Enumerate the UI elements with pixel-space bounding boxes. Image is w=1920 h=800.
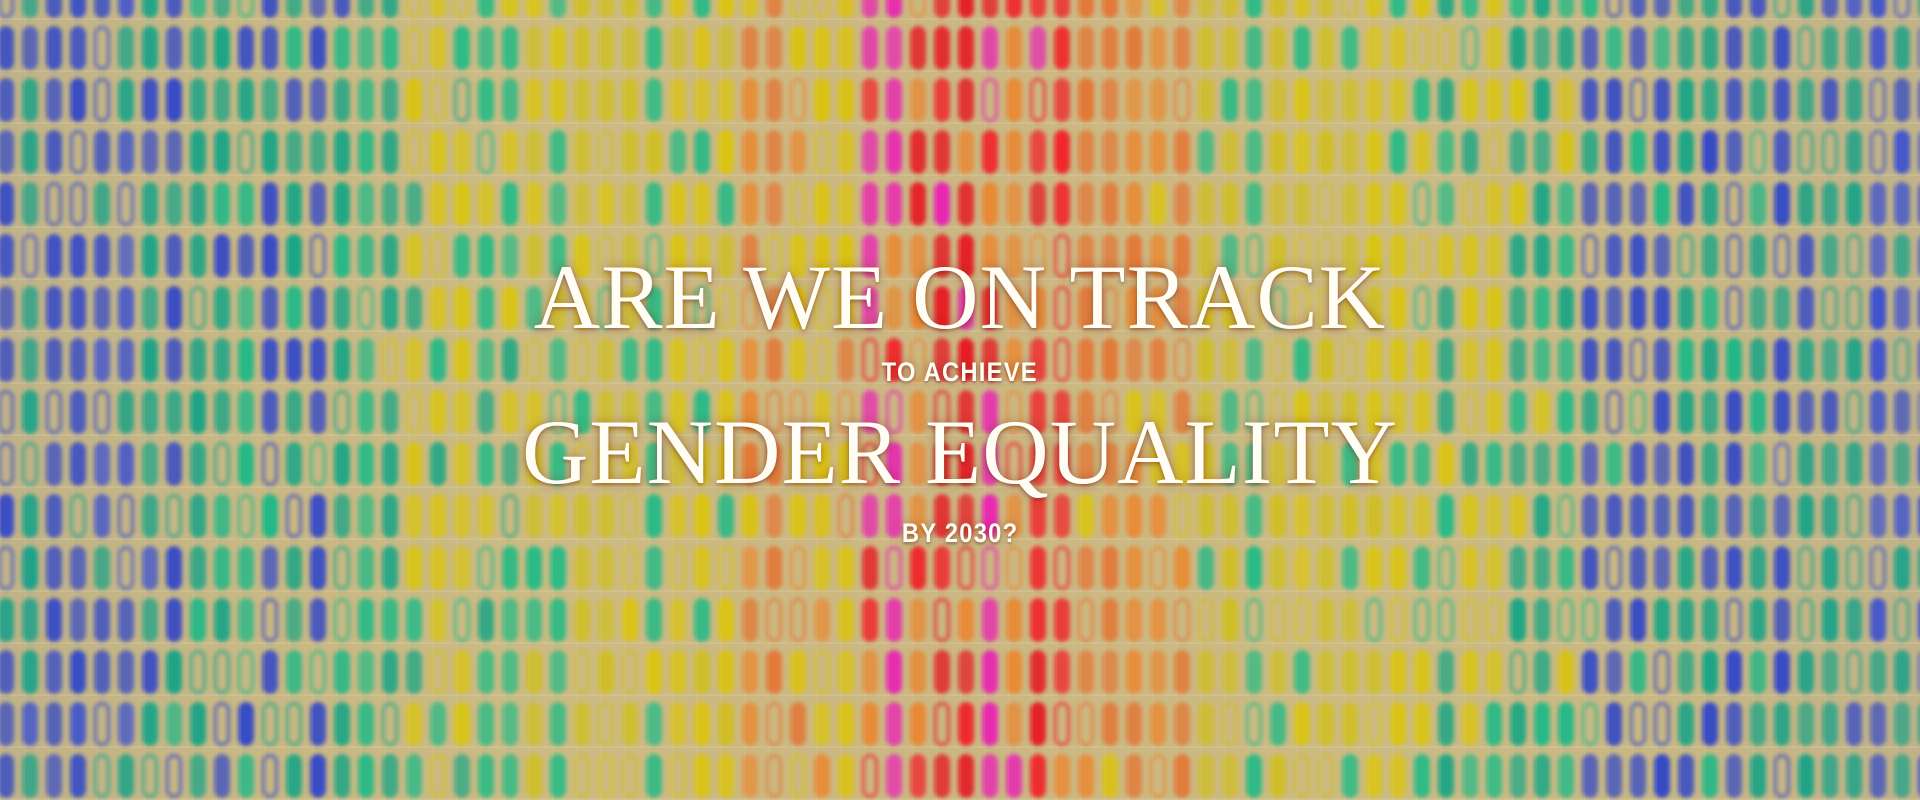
mosaic-pill xyxy=(958,130,974,174)
mosaic-pill xyxy=(1534,338,1550,382)
mosaic-pill xyxy=(1294,754,1310,798)
mosaic-pill xyxy=(886,754,902,798)
mosaic-pill xyxy=(1510,598,1526,642)
mosaic-pill xyxy=(142,494,158,538)
mosaic-pill xyxy=(334,26,350,70)
mosaic-pill xyxy=(1894,702,1910,746)
mosaic-pill xyxy=(1318,754,1334,798)
mosaic-pill xyxy=(1534,286,1550,330)
mosaic-pill xyxy=(1174,338,1190,382)
mosaic-pill xyxy=(1318,286,1334,330)
mosaic-pill xyxy=(406,182,422,226)
mosaic-pill xyxy=(1462,234,1478,278)
mosaic-pill xyxy=(1030,78,1046,122)
mosaic-pill xyxy=(1102,78,1118,122)
mosaic-pill xyxy=(1222,546,1238,590)
mosaic-pill xyxy=(1462,754,1478,798)
mosaic-pill xyxy=(286,754,302,798)
mosaic-pill xyxy=(670,702,686,746)
mosaic-pill xyxy=(1198,78,1214,122)
mosaic-pill xyxy=(1846,338,1862,382)
mosaic-pill xyxy=(1894,234,1910,278)
mosaic-pill xyxy=(886,338,902,382)
mosaic-pill xyxy=(718,546,734,590)
mosaic-pill xyxy=(1870,130,1886,174)
mosaic-pill xyxy=(166,338,182,382)
mosaic-pill xyxy=(1774,598,1790,642)
mosaic-pill xyxy=(574,702,590,746)
mosaic-pill xyxy=(94,26,110,70)
mosaic-pill xyxy=(1630,442,1646,486)
mosaic-pill xyxy=(190,650,206,694)
mosaic-pill xyxy=(1486,182,1502,226)
mosaic-pill xyxy=(1390,650,1406,694)
mosaic-pill xyxy=(718,182,734,226)
mosaic-pill xyxy=(622,702,638,746)
mosaic-pill xyxy=(1246,286,1262,330)
mosaic-pill xyxy=(1654,0,1670,18)
mosaic-pill xyxy=(142,26,158,70)
mosaic-pill xyxy=(1342,182,1358,226)
mosaic-pill xyxy=(1582,182,1598,226)
mosaic-pill xyxy=(838,26,854,70)
mosaic-pill xyxy=(1006,546,1022,590)
mosaic-pill xyxy=(838,234,854,278)
mosaic-pill xyxy=(862,442,878,486)
mosaic-pill xyxy=(1414,0,1430,18)
mosaic-pill xyxy=(1054,234,1070,278)
mosaic-pill xyxy=(382,234,398,278)
mosaic-pill xyxy=(1510,26,1526,70)
mosaic-pill xyxy=(310,598,326,642)
mosaic-pill xyxy=(790,286,806,330)
mosaic-pill xyxy=(958,338,974,382)
mosaic-pill xyxy=(142,0,158,18)
mosaic-pill xyxy=(1678,650,1694,694)
mosaic-pill xyxy=(766,182,782,226)
mosaic-pill xyxy=(646,338,662,382)
mosaic-pill xyxy=(430,546,446,590)
mosaic-pill xyxy=(838,0,854,18)
mosaic-pill xyxy=(430,26,446,70)
mosaic-pill xyxy=(1462,338,1478,382)
mosaic-pill xyxy=(742,650,758,694)
mosaic-pill xyxy=(1678,442,1694,486)
mosaic-pill xyxy=(1894,754,1910,798)
mosaic-pill xyxy=(646,442,662,486)
mosaic-pill xyxy=(526,598,542,642)
mosaic-pill xyxy=(1654,598,1670,642)
mosaic-pill xyxy=(1174,702,1190,746)
mosaic-pill xyxy=(478,130,494,174)
mosaic-pill xyxy=(70,390,86,434)
mosaic-pill xyxy=(1798,702,1814,746)
mosaic-pill xyxy=(1438,390,1454,434)
mosaic-pill xyxy=(1006,286,1022,330)
mosaic-pill xyxy=(502,234,518,278)
mosaic-pill xyxy=(814,286,830,330)
mosaic-pill xyxy=(670,182,686,226)
mosaic-pill xyxy=(1894,0,1910,18)
mosaic-pill xyxy=(958,390,974,434)
mosaic-pill xyxy=(1606,598,1622,642)
mosaic-pill xyxy=(430,598,446,642)
mosaic-pill xyxy=(1702,754,1718,798)
mosaic-pill xyxy=(70,650,86,694)
mosaic-pill xyxy=(598,546,614,590)
mosaic-pill xyxy=(118,598,134,642)
mosaic-pill xyxy=(22,754,38,798)
mosaic-pill xyxy=(1510,546,1526,590)
mosaic-pill xyxy=(1078,754,1094,798)
mosaic-pill xyxy=(1486,286,1502,330)
mosaic-pill xyxy=(1798,78,1814,122)
mosaic-pill xyxy=(742,0,758,18)
mosaic-pill xyxy=(1630,546,1646,590)
mosaic-pill xyxy=(934,234,950,278)
mosaic-pill xyxy=(1366,182,1382,226)
mosaic-pill xyxy=(1846,702,1862,746)
mosaic-pill xyxy=(70,286,86,330)
mosaic-pill xyxy=(1030,26,1046,70)
mosaic-pill xyxy=(814,442,830,486)
mosaic-pill xyxy=(1750,0,1766,18)
mosaic-pill xyxy=(1054,0,1070,18)
mosaic-pill xyxy=(598,754,614,798)
mosaic-pill xyxy=(214,390,230,434)
mosaic-pill xyxy=(1750,390,1766,434)
mosaic-pill xyxy=(1318,0,1334,18)
mosaic-pill xyxy=(598,390,614,434)
mosaic-pill xyxy=(1078,546,1094,590)
mosaic-pill xyxy=(1366,546,1382,590)
mosaic-pill xyxy=(1390,182,1406,226)
mosaic-pill xyxy=(838,338,854,382)
mosaic-pill xyxy=(166,754,182,798)
mosaic-pill xyxy=(1894,338,1910,382)
mosaic-pill xyxy=(406,494,422,538)
mosaic-pill xyxy=(550,338,566,382)
mosaic-pill xyxy=(286,26,302,70)
mosaic-pill xyxy=(862,650,878,694)
mosaic-pill xyxy=(670,494,686,538)
mosaic-pill xyxy=(1774,650,1790,694)
mosaic-pill xyxy=(574,598,590,642)
mosaic-pill xyxy=(670,546,686,590)
mosaic-pill xyxy=(1726,546,1742,590)
mosaic-pill xyxy=(982,130,998,174)
mosaic-pill xyxy=(958,650,974,694)
mosaic-pill xyxy=(670,0,686,18)
mosaic-pill xyxy=(1582,546,1598,590)
mosaic-pill xyxy=(934,546,950,590)
mosaic-pill xyxy=(238,494,254,538)
mosaic-pill xyxy=(814,390,830,434)
mosaic-pill xyxy=(694,598,710,642)
mosaic-pill xyxy=(958,78,974,122)
mosaic-pill xyxy=(1222,598,1238,642)
mosaic-pill xyxy=(502,26,518,70)
mosaic-pill xyxy=(790,598,806,642)
mosaic-pill xyxy=(1846,650,1862,694)
mosaic-pill xyxy=(934,338,950,382)
mosaic-pill xyxy=(622,390,638,434)
mosaic-pill xyxy=(406,234,422,278)
mosaic-pill xyxy=(1558,494,1574,538)
mosaic-pill xyxy=(1654,442,1670,486)
mosaic-pill xyxy=(1702,234,1718,278)
mosaic-pill xyxy=(646,130,662,174)
mosaic-pill xyxy=(46,286,62,330)
mosaic-pill xyxy=(166,130,182,174)
mosaic-pill xyxy=(1342,78,1358,122)
mosaic-pill xyxy=(94,234,110,278)
mosaic-pill xyxy=(1318,26,1334,70)
mosaic-pill xyxy=(1582,234,1598,278)
mosaic-pill xyxy=(718,702,734,746)
mosaic-pill xyxy=(118,494,134,538)
mosaic-pill xyxy=(670,390,686,434)
mosaic-pill xyxy=(310,650,326,694)
mosaic-pill xyxy=(262,390,278,434)
mosaic-pill xyxy=(1318,234,1334,278)
mosaic-pill xyxy=(0,754,14,798)
mosaic-pill xyxy=(1414,182,1430,226)
mosaic-pill xyxy=(454,442,470,486)
mosaic-pill xyxy=(1606,26,1622,70)
mosaic-pill xyxy=(1558,286,1574,330)
mosaic-pill xyxy=(238,26,254,70)
mosaic-pill xyxy=(262,546,278,590)
mosaic-pill xyxy=(1390,26,1406,70)
mosaic-pill xyxy=(334,338,350,382)
mosaic-pill xyxy=(1750,286,1766,330)
mosaic-pill xyxy=(142,338,158,382)
mosaic-pill xyxy=(70,182,86,226)
mosaic-pill xyxy=(334,754,350,798)
mosaic-pill xyxy=(862,78,878,122)
mosaic-pill xyxy=(742,286,758,330)
mosaic-pill xyxy=(1822,390,1838,434)
mosaic-pill xyxy=(214,338,230,382)
mosaic-pill xyxy=(1798,182,1814,226)
mosaic-pill xyxy=(1726,494,1742,538)
mosaic-pill xyxy=(238,338,254,382)
mosaic-pill xyxy=(1534,754,1550,798)
mosaic-pill xyxy=(238,546,254,590)
mosaic-pill xyxy=(382,546,398,590)
mosaic-pill xyxy=(622,78,638,122)
mosaic-pill xyxy=(22,78,38,122)
mosaic-pill xyxy=(622,442,638,486)
mosaic-pill xyxy=(1510,650,1526,694)
mosaic-pill xyxy=(694,442,710,486)
mosaic-pill xyxy=(1582,494,1598,538)
mosaic-pill xyxy=(1510,702,1526,746)
mosaic-pill xyxy=(22,338,38,382)
mosaic-pill xyxy=(1846,494,1862,538)
mosaic-pill xyxy=(1198,338,1214,382)
mosaic-pill xyxy=(1318,130,1334,174)
mosaic-pill xyxy=(1222,702,1238,746)
mosaic-pill xyxy=(982,234,998,278)
mosaic-pill xyxy=(718,650,734,694)
mosaic-pill xyxy=(478,702,494,746)
mosaic-pill xyxy=(1798,494,1814,538)
mosaic-pill xyxy=(1054,754,1070,798)
mosaic-pill xyxy=(1534,0,1550,18)
mosaic-pill xyxy=(622,650,638,694)
mosaic-pill xyxy=(1894,442,1910,486)
mosaic-pill xyxy=(886,26,902,70)
mosaic-pill xyxy=(742,442,758,486)
mosaic-pill xyxy=(814,0,830,18)
mosaic-pill xyxy=(1030,130,1046,174)
mosaic-pill xyxy=(1846,546,1862,590)
mosaic-pill xyxy=(1558,182,1574,226)
mosaic-pill xyxy=(1870,702,1886,746)
mosaic-pill xyxy=(1198,442,1214,486)
mosaic-pill xyxy=(1390,338,1406,382)
mosaic-pill xyxy=(478,234,494,278)
mosaic-pill xyxy=(214,0,230,18)
mosaic-pill xyxy=(0,494,14,538)
mosaic-pill xyxy=(214,286,230,330)
mosaic-pill xyxy=(1414,650,1430,694)
mosaic-pill xyxy=(1294,650,1310,694)
mosaic-pill xyxy=(1102,286,1118,330)
mosaic-pill xyxy=(1102,598,1118,642)
mosaic-pill xyxy=(166,182,182,226)
mosaic-pill xyxy=(1558,234,1574,278)
mosaic-pill xyxy=(1270,26,1286,70)
mosaic-pill xyxy=(1438,546,1454,590)
mosaic-pill xyxy=(382,650,398,694)
mosaic-pill xyxy=(910,0,926,18)
mosaic-pill xyxy=(1414,702,1430,746)
mosaic-pill xyxy=(1822,26,1838,70)
mosaic-pill xyxy=(310,390,326,434)
mosaic-pill xyxy=(1462,442,1478,486)
mosaic-pill xyxy=(22,130,38,174)
mosaic-pill xyxy=(454,338,470,382)
mosaic-pill xyxy=(1030,546,1046,590)
mosaic-pill xyxy=(94,494,110,538)
mosaic-pill xyxy=(190,442,206,486)
mosaic-pill xyxy=(70,26,86,70)
mosaic-pill xyxy=(766,754,782,798)
mosaic-pill xyxy=(70,338,86,382)
mosaic-pill xyxy=(22,26,38,70)
mosaic-pill xyxy=(1678,286,1694,330)
mosaic-pill xyxy=(286,182,302,226)
mosaic-pill xyxy=(670,442,686,486)
mosaic-pill xyxy=(406,26,422,70)
mosaic-pill xyxy=(0,182,14,226)
mosaic-pill xyxy=(1414,286,1430,330)
mosaic-pill xyxy=(1726,754,1742,798)
mosaic-pill xyxy=(1678,702,1694,746)
mosaic-pill xyxy=(910,234,926,278)
mosaic-pill xyxy=(1414,494,1430,538)
mosaic-pill xyxy=(862,546,878,590)
mosaic-pill xyxy=(1318,390,1334,434)
mosaic-pill xyxy=(1366,130,1382,174)
mosaic-pill xyxy=(1390,546,1406,590)
mosaic-pill xyxy=(622,234,638,278)
mosaic-pill xyxy=(0,598,14,642)
mosaic-pill xyxy=(1798,442,1814,486)
mosaic-pill xyxy=(1414,754,1430,798)
mosaic-pill xyxy=(454,702,470,746)
mosaic-pill xyxy=(550,650,566,694)
mosaic-pill xyxy=(1270,130,1286,174)
mosaic-pill xyxy=(1822,702,1838,746)
mosaic-pill xyxy=(22,390,38,434)
mosaic-pill xyxy=(1222,182,1238,226)
mosaic-pill xyxy=(1486,442,1502,486)
mosaic-pill xyxy=(430,182,446,226)
mosaic-pill xyxy=(454,494,470,538)
mosaic-pill xyxy=(1126,754,1142,798)
mosaic-pill xyxy=(550,286,566,330)
mosaic-pill xyxy=(910,390,926,434)
mosaic-pill xyxy=(454,234,470,278)
mosaic-pill xyxy=(598,702,614,746)
mosaic-pill xyxy=(1294,494,1310,538)
mosaic-pill xyxy=(934,598,950,642)
mosaic-pill xyxy=(1822,494,1838,538)
mosaic-pill xyxy=(1846,130,1862,174)
mosaic-pill xyxy=(310,338,326,382)
mosaic-pill xyxy=(94,286,110,330)
mosaic-pill xyxy=(190,702,206,746)
mosaic-pill xyxy=(982,26,998,70)
mosaic-pill xyxy=(1558,546,1574,590)
mosaic-pill xyxy=(598,182,614,226)
mosaic-pill xyxy=(1870,338,1886,382)
mosaic-pill xyxy=(862,754,878,798)
mosaic-pill xyxy=(646,390,662,434)
mosaic-pill xyxy=(1510,286,1526,330)
mosaic-pill xyxy=(454,0,470,18)
mosaic-pill xyxy=(622,338,638,382)
mosaic-pill xyxy=(550,702,566,746)
mosaic-pill xyxy=(838,286,854,330)
mosaic-pill xyxy=(46,234,62,278)
mosaic-pill xyxy=(1150,78,1166,122)
mosaic-pill xyxy=(1750,598,1766,642)
mosaic-pill xyxy=(1486,338,1502,382)
mosaic-pill xyxy=(214,182,230,226)
mosaic-pill xyxy=(1462,546,1478,590)
mosaic-pill xyxy=(1630,26,1646,70)
mosaic-pill xyxy=(742,182,758,226)
mosaic-pill xyxy=(382,286,398,330)
mosaic-pill xyxy=(238,650,254,694)
mosaic-pill xyxy=(1726,26,1742,70)
mosaic-pill xyxy=(1510,182,1526,226)
mosaic-pill xyxy=(1654,234,1670,278)
mosaic-pill xyxy=(1870,0,1886,18)
mosaic-pill xyxy=(1774,442,1790,486)
mosaic-pill xyxy=(502,0,518,18)
mosaic-pill xyxy=(1054,390,1070,434)
mosaic-pill xyxy=(1726,182,1742,226)
mosaic-pill xyxy=(1750,442,1766,486)
mosaic-pill xyxy=(478,182,494,226)
mosaic-pill xyxy=(1294,702,1310,746)
